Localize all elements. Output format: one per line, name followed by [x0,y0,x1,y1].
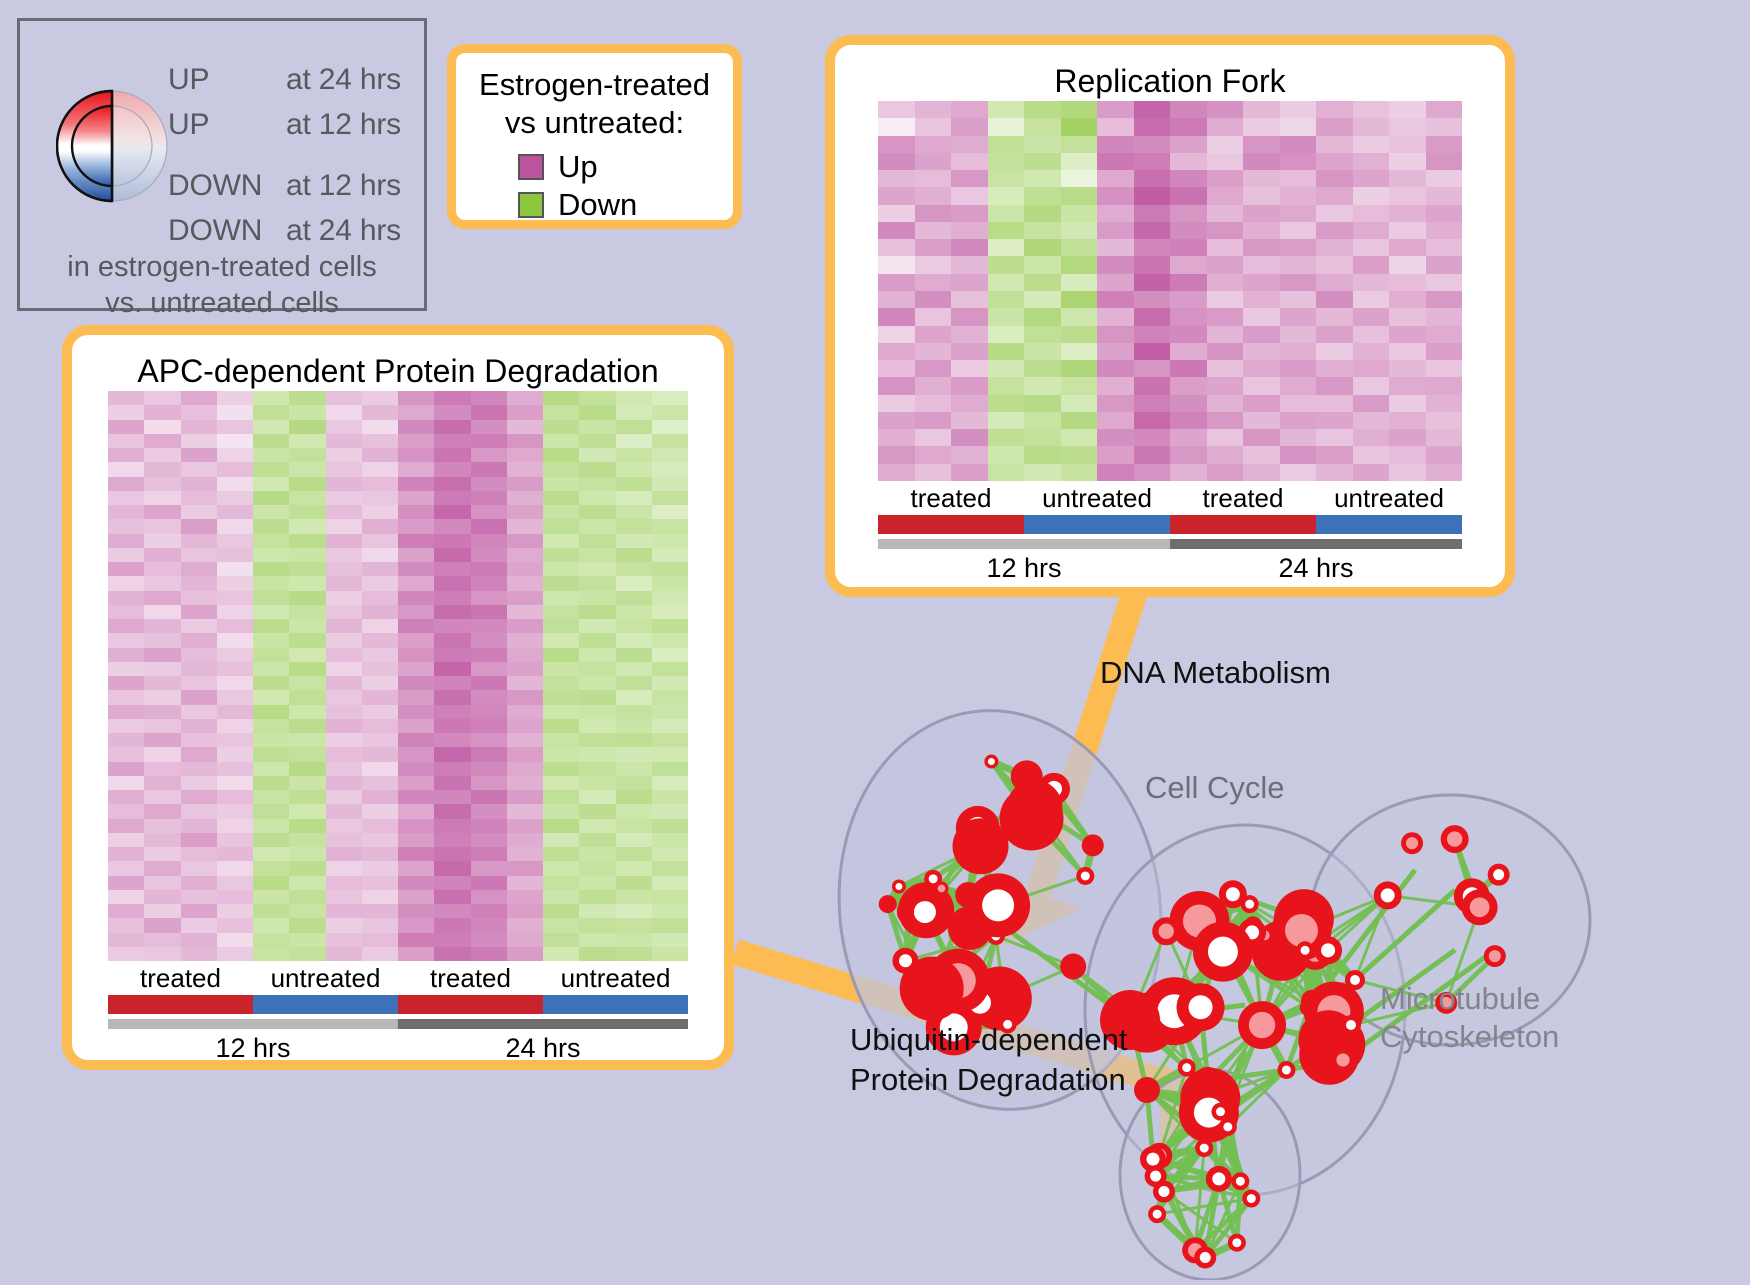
network-diagram: DNA Metabolism Cell Cycle Microtubule Cy… [795,620,1750,1280]
heatmap-cell [579,391,615,405]
figure-canvas: UP at 24 hrs UP at 12 hrs DOWN at 12 hrs… [0,0,1750,1279]
heatmap-cell [398,491,434,505]
heatmap-cell [543,861,579,875]
heatmap-cell [181,904,217,918]
heatmap-cell [878,360,915,377]
heatmap-cell [362,391,398,405]
heatmap-cell [579,819,615,833]
heatmap-cell [652,505,688,519]
heatmap-cell [1389,291,1426,308]
network-node-core [1447,831,1462,846]
heatmap-cell [253,776,289,790]
heatmap-cell [1207,205,1244,222]
heatmap-cell [878,343,915,360]
heatmap-cell [1207,256,1244,273]
heatmap-cell [988,291,1025,308]
heatmap-cell [1061,360,1098,377]
node-key-caption: DOWN [168,163,286,208]
heatmap-cell [217,876,253,890]
treatment-bar-segment [1316,515,1462,534]
heatmap-cell [1061,136,1098,153]
heatmap-cell [1280,326,1317,343]
heatmap-cell [289,534,325,548]
heatmap-cell [181,448,217,462]
heatmap-cell [1280,153,1317,170]
heatmap-cell [951,412,988,429]
heatmap-cell [217,576,253,590]
heatmap-cell [362,776,398,790]
time-label: 24 hrs [1170,549,1462,587]
heatmap-cell [1316,343,1353,360]
heatmap-cell [1243,326,1280,343]
node-key-disc-icon [56,51,168,241]
heatmap-cell [507,947,543,961]
heatmap-cell [878,429,915,446]
heatmap-cell [1316,326,1353,343]
heatmap-cell [144,776,180,790]
heatmap-cell [507,477,543,491]
heatmap-cell [471,847,507,861]
heatmap-cell [144,477,180,491]
heatmap-cell [652,676,688,690]
heatmap-cell [1426,187,1463,204]
heatmap-cell [1243,170,1280,187]
heatmap-cell [878,464,915,481]
heatmap-cell [951,326,988,343]
heatmap-cell [108,420,144,434]
heatmap-cell [507,420,543,434]
heatmap-cell [507,519,543,533]
heatmap-cell [434,576,470,590]
heatmap-cell [507,804,543,818]
heatmap-cell [543,933,579,947]
heatmap-cell [1097,256,1134,273]
heatmap-cell [434,420,470,434]
network-node-core [914,901,936,923]
heatmap-cell [1207,395,1244,412]
legend-item-up: Up [518,148,733,186]
heatmap-cell [398,662,434,676]
heatmap-cell [434,833,470,847]
heatmap-cell [1097,395,1134,412]
heatmap-cell [616,662,652,676]
network-node[interactable] [966,829,998,861]
heatmap-cell [543,591,579,605]
heatmap-cell [326,420,362,434]
heatmap-cell [1353,429,1390,446]
heatmap-cell [652,833,688,847]
heatmap-cell [616,705,652,719]
heatmap-cell [434,890,470,904]
heatmap-cell [507,434,543,448]
heatmap-cell [543,733,579,747]
cluster-label-dna-metabolism: DNA Metabolism [1100,655,1331,691]
heatmap-cell [253,491,289,505]
heatmap-cell [1024,360,1061,377]
heatmap-cell [1243,205,1280,222]
timepoint-bar-segment [878,539,1170,549]
treatment-bar-segment [543,995,688,1014]
heatmap-cell [1389,205,1426,222]
heatmap-cell [326,719,362,733]
heatmap-cell [652,619,688,633]
heatmap-cell [878,170,915,187]
heatmap-cell [289,733,325,747]
heatmap-cell [144,804,180,818]
heatmap-cell [1134,136,1171,153]
heatmap-cell [616,762,652,776]
heatmap-cell [579,405,615,419]
heatmap-cell [108,776,144,790]
heatmap-cell [253,505,289,519]
heatmap-cell [1426,239,1463,256]
heatmap-cell [1207,377,1244,394]
heatmap-cell [915,256,952,273]
heatmap-cell [1024,274,1061,291]
heatmap-cell [1389,153,1426,170]
heatmap-cell [181,676,217,690]
heatmap-cell [579,491,615,505]
heatmap-cell [326,933,362,947]
heatmap-cell [1061,395,1098,412]
network-node-core [1301,946,1310,955]
heatmap-cell [616,933,652,947]
heatmap-cell [181,391,217,405]
heatmap-cell [652,462,688,476]
heatmap-cell [507,676,543,690]
heatmap-cell [253,847,289,861]
network-node[interactable] [1060,953,1086,979]
heatmap-cell [1207,118,1244,135]
heatmap-cell [1426,343,1463,360]
heatmap-cell [579,719,615,733]
timepoint-bar-segment [398,1019,688,1029]
heatmap-cell [652,519,688,533]
heatmap-cell [579,633,615,647]
heatmap-cell [1207,136,1244,153]
heatmap-cell [1097,136,1134,153]
heatmap-cell [1170,429,1207,446]
heatmap-cell [652,918,688,932]
heatmap-cell [253,904,289,918]
heatmap-cell [289,762,325,776]
heatmap-cell [362,847,398,861]
heatmap-cell [434,619,470,633]
heatmap-cell [652,605,688,619]
heatmap-cell [616,719,652,733]
heatmap-cell [434,648,470,662]
heatmap-cell [1243,274,1280,291]
heatmap-cell [988,187,1025,204]
heatmap-cell [217,662,253,676]
heatmap-cell [217,534,253,548]
heatmap-cell [1316,464,1353,481]
heatmap-cell [951,429,988,446]
heatmap-cell [326,576,362,590]
heatmap-cell [398,918,434,932]
heatmap-cell [398,733,434,747]
heatmap-cell [1061,170,1098,187]
heatmap-cell [326,790,362,804]
estrogen-legend-title: Estrogen-treated vs untreated: [456,53,733,142]
heatmap-cell [1024,101,1061,118]
node-key-caption: UP [168,102,286,147]
heatmap-cell [289,819,325,833]
heatmap-cell [471,462,507,476]
heatmap-cell [362,662,398,676]
heatmap-cell [181,548,217,562]
heatmap-cell [181,790,217,804]
heatmap-cell [579,705,615,719]
heatmap-cell [1426,377,1463,394]
heatmap-cell [1024,326,1061,343]
node-key-caption: DOWN [168,208,286,253]
heatmap-cell [915,395,952,412]
heatmap-cell [289,833,325,847]
heatmap-cell [988,395,1025,412]
network-node-core [1081,871,1090,880]
heatmap-cell [507,534,543,548]
heatmap-cell [434,719,470,733]
heatmap-cell [108,662,144,676]
heatmap-cell [326,705,362,719]
heatmap-cell [1024,308,1061,325]
estrogen-legend-title-line1: Estrogen-treated [456,66,733,104]
heatmap-cell [543,619,579,633]
heatmap-cell [289,391,325,405]
heatmap-cell [1316,412,1353,429]
heatmap-cell [144,705,180,719]
estrogen-legend-items: Up Down [456,148,733,224]
heatmap-cell [217,705,253,719]
heatmap-cell [471,861,507,875]
heatmap-cell [652,733,688,747]
heatmap-cell [362,861,398,875]
heatmap-cell [434,819,470,833]
heatmap-cell [951,222,988,239]
heatmap-cell [253,477,289,491]
heatmap-cell [543,904,579,918]
panel-apc-degradation: APC-dependent Protein Degradation treate… [62,325,734,1070]
heatmap-cell [616,576,652,590]
heatmap-cell [1024,256,1061,273]
heatmap-cell [1170,239,1207,256]
heatmap-cell [181,576,217,590]
treatment-color-bar-apc [108,995,688,1014]
heatmap-cell [434,747,470,761]
heatmap-cell [1134,412,1171,429]
heatmap-cell [543,819,579,833]
heatmap-cell [1207,308,1244,325]
heatmap-cell [915,274,952,291]
heatmap-cell [217,434,253,448]
network-node-core [938,885,946,893]
heatmap-cell [1389,308,1426,325]
heatmap-cell [579,790,615,804]
heatmap-cell [652,776,688,790]
heatmap-cell [878,377,915,394]
heatmap-cell [362,790,398,804]
node-key-row: UP at 24 hrs [168,57,418,102]
heatmap-cell [652,405,688,419]
heatmap-cell [253,933,289,947]
heatmap-cell [616,876,652,890]
heatmap-cell [616,462,652,476]
heatmap-cell [289,648,325,662]
heatmap-cell [616,819,652,833]
heatmap-cell [507,690,543,704]
heatmap-cell [181,833,217,847]
heatmap-cell [507,391,543,405]
heatmap-cell [217,491,253,505]
heatmap-cell [1426,291,1463,308]
heatmap-cell [144,448,180,462]
heatmap-cell [326,947,362,961]
heatmap-cell [471,690,507,704]
treatment-bar-segment [878,515,1024,534]
heatmap-cell [471,591,507,605]
network-node[interactable] [1134,1077,1160,1103]
heatmap-cell [988,360,1025,377]
heatmap-cell [289,804,325,818]
heatmap-cell [543,847,579,861]
heatmap-cell [1426,222,1463,239]
heatmap-cell [616,676,652,690]
heatmap-cell [144,762,180,776]
heatmap-cell [1061,205,1098,222]
heatmap-cell [1280,446,1317,463]
heatmap-cell [1280,239,1317,256]
heatmap-cell [1426,136,1463,153]
heatmap-cell [289,747,325,761]
heatmap-cell [878,222,915,239]
heatmap-cell [108,733,144,747]
heatmap-cell [1024,222,1061,239]
network-node[interactable] [1194,1067,1222,1095]
network-node-core [1350,975,1360,985]
heatmap-cell [1061,377,1098,394]
heatmap-cell [398,619,434,633]
heatmap-cell [507,648,543,662]
heatmap-cell [108,448,144,462]
heatmap-cell [507,619,543,633]
heatmap-cell [181,947,217,961]
heatmap-cell [1353,205,1390,222]
heatmap-cell [579,591,615,605]
heatmap-cell [1061,343,1098,360]
heatmap-cell [579,562,615,576]
heatmap-cell [217,420,253,434]
heatmap-cell [507,405,543,419]
heatmap-cell [1389,101,1426,118]
heatmap-cell [579,462,615,476]
heatmap-cell [181,662,217,676]
heatmap-cell [915,222,952,239]
heatmap-cell [398,819,434,833]
heatmap-cell [398,534,434,548]
heatmap-cell [398,633,434,647]
heatmap-cell [326,918,362,932]
heatmap-cell [326,861,362,875]
heatmap-cell [1207,291,1244,308]
heatmap-cell [362,462,398,476]
heatmap-cell [616,747,652,761]
heatmap-cell [1207,222,1244,239]
heatmap-cell [951,239,988,256]
heatmap-cell [289,619,325,633]
heatmap-cell [1353,136,1390,153]
heatmap-cell [579,576,615,590]
network-node[interactable] [1011,760,1043,792]
heatmap-cell [616,619,652,633]
heatmap-cell [217,477,253,491]
heatmap-cell [398,876,434,890]
heatmap-cell [652,434,688,448]
heatmap-cell [326,662,362,676]
heatmap-cell [289,519,325,533]
heatmap-cell [1024,429,1061,446]
heatmap-cell [1061,153,1098,170]
network-node[interactable] [879,895,897,913]
heatmap-cell [253,405,289,419]
heatmap-cell [434,918,470,932]
heatmap-cell [471,819,507,833]
heatmap-cell [253,548,289,562]
network-node[interactable] [1082,834,1104,856]
node-key-row: DOWN at 12 hrs [168,163,418,208]
heatmap-cell [1316,101,1353,118]
heatmap-cell [915,412,952,429]
heatmap-cell [1243,153,1280,170]
heatmap-cell [1134,118,1171,135]
heatmap-cell [253,391,289,405]
heatmap-cell [652,690,688,704]
network-node-core [1159,924,1174,939]
heatmap-cell [471,405,507,419]
heatmap-cell [326,819,362,833]
heatmap-cell [398,462,434,476]
heatmap-cell [579,676,615,690]
heatmap-cell [915,429,952,446]
heatmap-cell [434,462,470,476]
heatmap-cell [878,118,915,135]
heatmap-cell [289,847,325,861]
heatmap-cell [1097,412,1134,429]
heatmap-cell [181,477,217,491]
heatmap-cell [289,662,325,676]
heatmap-cell [988,153,1025,170]
heatmap-cell [616,733,652,747]
heatmap-cell [326,890,362,904]
network-node-core [1381,888,1395,902]
heatmap-cell [108,648,144,662]
heatmap-cell [1280,136,1317,153]
heatmap-cell [253,918,289,932]
heatmap-cell [507,904,543,918]
heatmap-cell [1316,274,1353,291]
heatmap-cell [652,861,688,875]
heatmap-cell [108,605,144,619]
heatmap-cell [1316,446,1353,463]
heatmap-cell [144,861,180,875]
heatmap-cell [181,776,217,790]
heatmap-cell [362,918,398,932]
heatmap-cell [362,405,398,419]
heatmap-cell [181,519,217,533]
heatmap-cell [579,519,615,533]
heatmap-cell [579,733,615,747]
heatmap-cell [1389,395,1426,412]
